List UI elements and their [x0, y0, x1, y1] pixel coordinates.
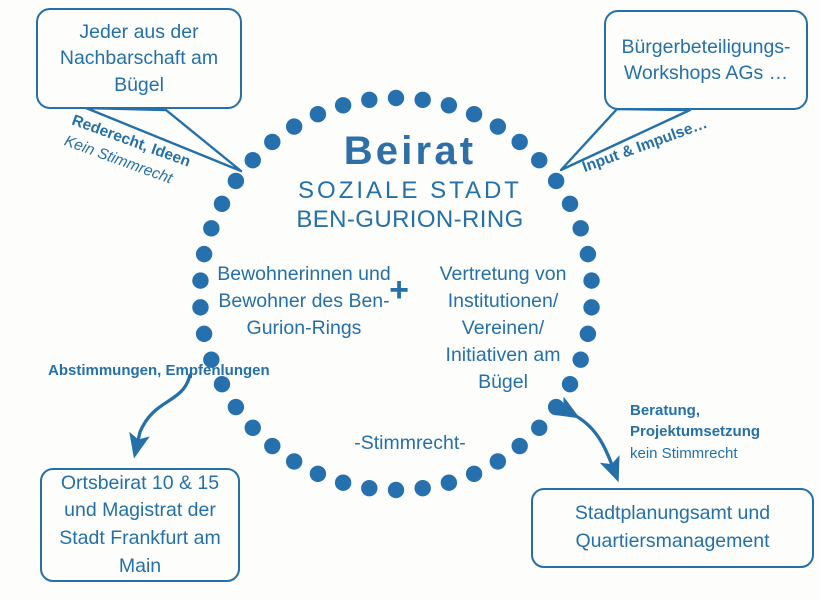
ring-dot	[310, 466, 326, 482]
ring-dot	[580, 326, 596, 342]
bubble-workshops-text: Bürgerbeteiligungs- Workshops AGs …	[616, 34, 796, 86]
bubble-neighbourhood[interactable]: Jeder aus der Nachbarschaft am Bügel	[36, 8, 242, 109]
members-residents: Bewohnerinnen und Bewohner des Ben-Gurio…	[214, 261, 394, 342]
ring-dot	[196, 326, 212, 342]
ring-dot	[228, 399, 244, 415]
ring-dot	[361, 480, 377, 496]
caption-abstimmungen: Abstimmungen, Empfehlungen	[48, 360, 270, 381]
ring-dot	[441, 97, 457, 113]
bubble-workshops[interactable]: Bürgerbeteiligungs- Workshops AGs …	[604, 10, 808, 110]
ring-dot	[583, 272, 599, 288]
bubble-neighbourhood-text: Jeder aus der Nachbarschaft am Bügel	[48, 19, 230, 97]
diagram-canvas: Jeder aus der Nachbarschaft am Bügel Red…	[0, 0, 820, 600]
ring-dot	[335, 475, 351, 491]
ring-dot	[548, 399, 564, 415]
ring-dot	[441, 475, 457, 491]
ring-dot	[196, 246, 212, 262]
ring-dot	[466, 466, 482, 482]
box-stadtplanungsamt-text: Stadtplanungsamt und Quartiersmanagement	[543, 500, 802, 555]
box-ortsbeirat[interactable]: Ortsbeirat 10 & 15 und Magistrat der Sta…	[40, 468, 240, 582]
caption-beratung-plain: kein Stimmrecht	[630, 443, 820, 464]
subtitle-ben-gurion-ring: BEN-GURION-RING	[0, 205, 820, 234]
subtitle-soziale-stadt: SOZIALE STADT	[0, 176, 820, 205]
ring-dot	[361, 92, 377, 108]
ring-dot	[192, 299, 208, 315]
members-institutions: Vertretung von Institutionen/ Vereinen/ …	[424, 261, 582, 396]
ring-dot	[335, 97, 351, 113]
caption-beratung: Beratung, Projektumsetzung kein Stimmrec…	[630, 400, 820, 464]
ring-dot	[388, 482, 404, 498]
page-title: Beirat	[0, 127, 820, 176]
ring-dot	[388, 90, 404, 106]
ring-dot	[583, 299, 599, 315]
ring-dot	[310, 106, 326, 122]
ring-dot	[466, 106, 482, 122]
box-ortsbeirat-text: Ortsbeirat 10 & 15 und Magistrat der Sta…	[52, 470, 228, 581]
ring-dot	[414, 92, 430, 108]
ring-dot	[414, 480, 430, 496]
plus-icon: +	[385, 276, 413, 304]
ring-dot	[192, 272, 208, 288]
box-stadtplanungsamt[interactable]: Stadtplanungsamt und Quartiersmanagement	[531, 488, 814, 568]
ring-dot	[580, 246, 596, 262]
caption-beratung-bold: Beratung, Projektumsetzung	[630, 400, 820, 443]
